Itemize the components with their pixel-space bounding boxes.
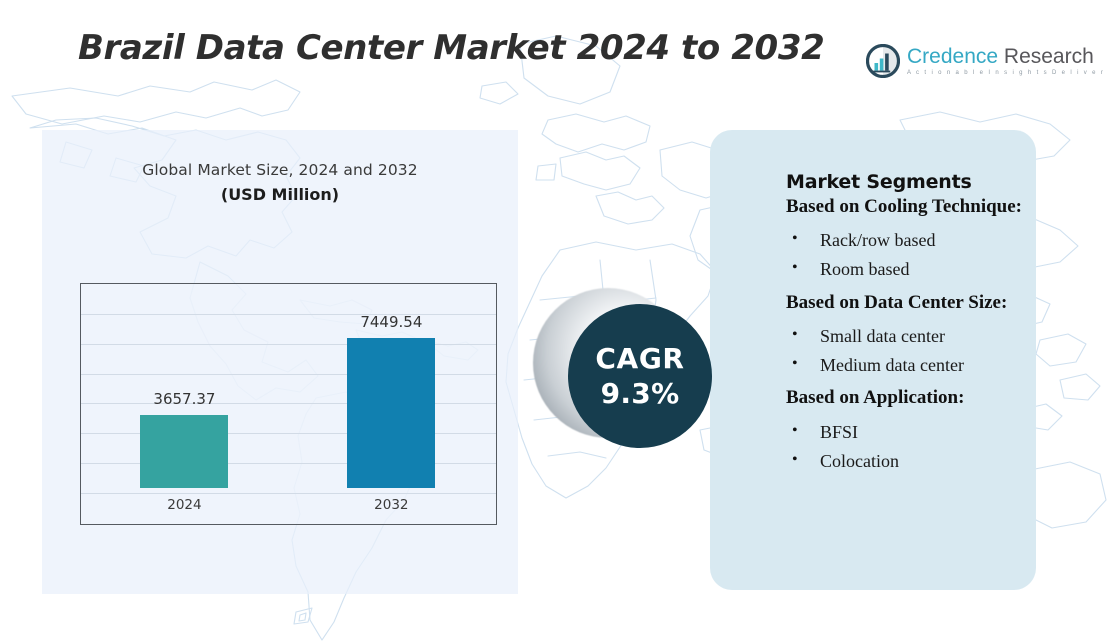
segment-item-label: Colocation [820, 451, 899, 471]
bar-category-label: 2032 [374, 497, 408, 513]
bullet-icon: • [792, 351, 798, 377]
bar-2032 [347, 338, 435, 488]
bar-chart-circle-icon [866, 44, 900, 78]
segment-list-item: •BFSI [786, 418, 1044, 447]
segment-item-label: Room based [820, 259, 910, 279]
logo-word-credence: Credence [907, 45, 998, 68]
segment-item-label: Small data center [820, 326, 945, 346]
infographic-canvas: Brazil Data Center Market 2024 to 2032 C… [0, 0, 1107, 641]
bar-2024 [140, 415, 228, 488]
chart-title-unit: (USD Million) [42, 185, 518, 204]
segment-item-label: Rack/row based [820, 230, 935, 250]
logo-tagline: A c t i o n a b l e I n s i g h t s D e … [907, 70, 1107, 76]
segment-heading: Based on Application: [786, 386, 1044, 410]
segment-list-item: •Medium data center [786, 351, 1044, 380]
market-segments: Market Segments Based on Cooling Techniq… [786, 171, 1044, 482]
bullet-icon: • [792, 322, 798, 348]
logo-wordmark: Credence Research [907, 46, 1107, 68]
segment-list: •Rack/row based•Room based [786, 226, 1044, 284]
bar-chart-plot-area: 3657.3720247449.542032 [80, 283, 497, 525]
segment-item-label: BFSI [820, 422, 858, 442]
cagr-badge: CAGR 9.3% [533, 288, 713, 440]
bullet-icon: • [792, 447, 798, 473]
bar-group: 3657.372024 [140, 415, 228, 488]
bullet-icon: • [792, 255, 798, 281]
credence-research-logo: Credence Research A c t i o n a b l e I … [866, 44, 1107, 78]
market-segments-title: Market Segments [786, 171, 1044, 193]
bar-value-label: 7449.54 [360, 313, 422, 331]
chart-bars: 3657.3720247449.542032 [81, 284, 496, 524]
logo-word-research: Research [998, 45, 1094, 68]
cagr-circle: CAGR 9.3% [568, 304, 712, 448]
segment-list: •BFSI•Colocation [786, 418, 1044, 476]
segment-heading: Based on Data Center Size: [786, 291, 1044, 315]
bar-group: 7449.542032 [347, 338, 435, 488]
bar-value-label: 3657.37 [153, 390, 215, 408]
bullet-icon: • [792, 226, 798, 252]
segment-item-label: Medium data center [820, 355, 964, 375]
page-title: Brazil Data Center Market 2024 to 2032 [78, 28, 824, 68]
cagr-label: CAGR [595, 344, 684, 373]
bar-category-label: 2024 [167, 497, 201, 513]
chart-title-primary: Global Market Size, 2024 and 2032 [42, 161, 518, 179]
segment-list: •Small data center•Medium data center [786, 322, 1044, 380]
bullet-icon: • [792, 418, 798, 444]
segment-list-item: •Rack/row based [786, 226, 1044, 255]
segment-heading: Based on Cooling Technique: [786, 195, 1044, 219]
segment-list-item: •Room based [786, 255, 1044, 284]
segment-list-item: •Colocation [786, 447, 1044, 476]
cagr-value: 9.3% [601, 379, 680, 408]
segment-list-item: •Small data center [786, 322, 1044, 351]
chart-title: Global Market Size, 2024 and 2032 (USD M… [42, 161, 518, 204]
